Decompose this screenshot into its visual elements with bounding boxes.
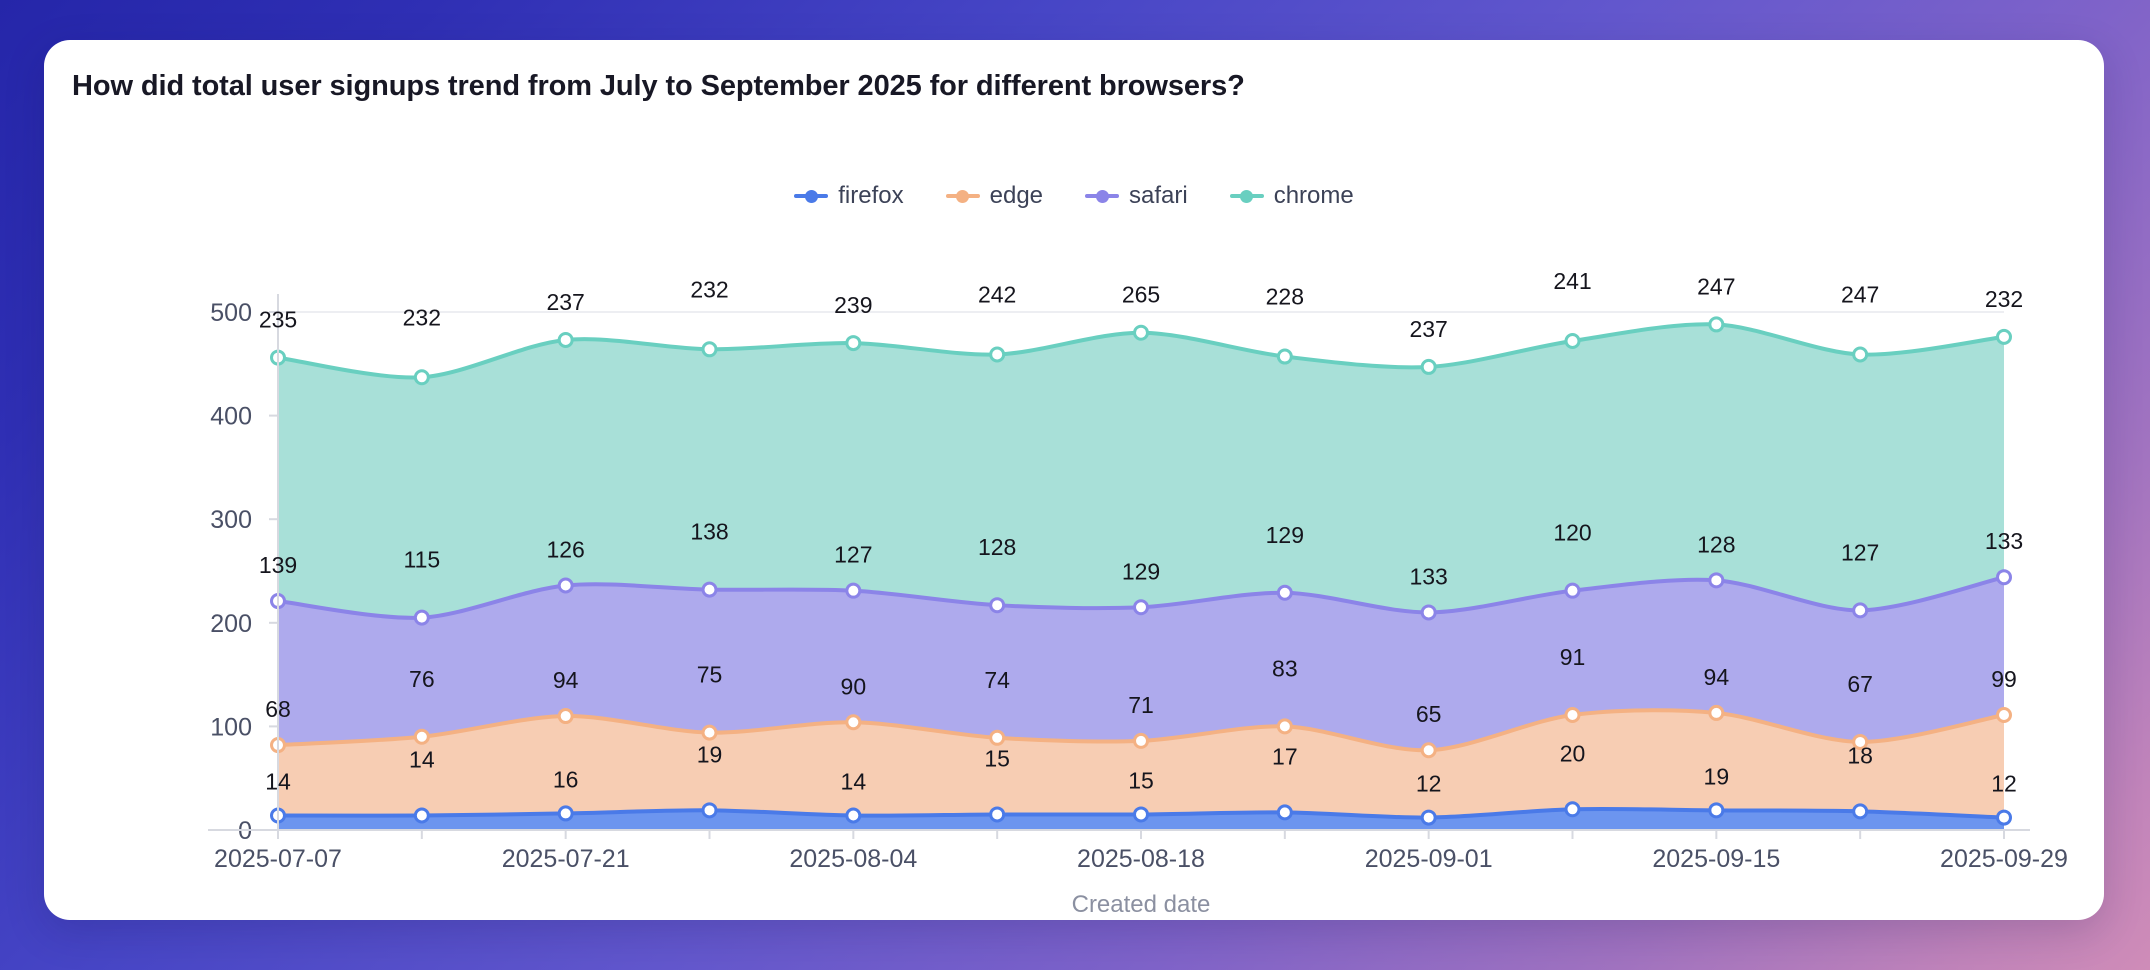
data-point-label: 99: [1991, 666, 2017, 692]
data-point-firefox[interactable]: [847, 809, 860, 822]
data-point-label: 127: [1841, 539, 1879, 565]
data-point-firefox[interactable]: [1278, 806, 1291, 819]
data-point-edge[interactable]: [1278, 720, 1291, 733]
data-point-label: 14: [841, 768, 867, 794]
data-point-edge[interactable]: [991, 731, 1004, 744]
data-point-label: 17: [1272, 743, 1298, 769]
x-axis-tick-label: 2025-09-15: [1652, 845, 1780, 873]
data-point-label: 83: [1272, 655, 1298, 681]
data-point-safari[interactable]: [1135, 601, 1148, 614]
x-axis-tick-label: 2025-09-01: [1365, 845, 1493, 873]
chart-plot-area: 01002003004005002025-07-072025-07-212025…: [44, 40, 2104, 920]
data-point-label: 241: [1553, 268, 1591, 294]
data-point-chrome[interactable]: [415, 371, 428, 384]
data-point-label: 247: [1697, 273, 1735, 299]
data-point-label: 235: [259, 307, 297, 333]
data-point-firefox[interactable]: [415, 809, 428, 822]
data-point-edge[interactable]: [415, 730, 428, 743]
data-point-firefox[interactable]: [1998, 811, 2011, 824]
data-point-chrome[interactable]: [1998, 330, 2011, 343]
data-point-firefox[interactable]: [1710, 804, 1723, 817]
data-point-label: 232: [1985, 286, 2023, 312]
data-point-safari[interactable]: [1566, 584, 1579, 597]
data-point-label: 20: [1560, 740, 1586, 766]
data-point-edge[interactable]: [559, 710, 572, 723]
data-point-safari[interactable]: [415, 611, 428, 624]
data-point-label: 128: [978, 534, 1016, 560]
data-point-label: 237: [546, 289, 584, 315]
data-point-label: 133: [1409, 563, 1447, 589]
data-point-edge[interactable]: [847, 716, 860, 729]
data-point-label: 74: [984, 667, 1010, 693]
data-point-chrome[interactable]: [1710, 318, 1723, 331]
data-point-label: 138: [690, 519, 728, 545]
data-point-edge[interactable]: [1135, 734, 1148, 747]
data-point-chrome[interactable]: [847, 337, 860, 350]
data-point-label: 133: [1985, 528, 2023, 554]
y-axis-tick-label: 300: [210, 506, 252, 534]
data-point-label: 228: [1266, 284, 1304, 310]
data-point-label: 139: [259, 552, 297, 578]
data-point-label: 94: [553, 667, 579, 693]
data-point-label: 12: [1991, 771, 2017, 797]
data-point-edge[interactable]: [1566, 709, 1579, 722]
x-axis-title: Created date: [1072, 891, 1211, 918]
data-point-label: 65: [1416, 701, 1442, 727]
data-point-label: 91: [1560, 644, 1586, 670]
data-point-safari[interactable]: [703, 583, 716, 596]
data-point-label: 120: [1553, 520, 1591, 546]
x-axis-tick-label: 2025-09-29: [1940, 845, 2068, 873]
data-point-label: 115: [403, 547, 440, 573]
x-axis-tick-label: 2025-07-07: [214, 845, 342, 873]
data-point-label: 67: [1847, 671, 1873, 697]
data-point-safari[interactable]: [1422, 606, 1435, 619]
data-point-chrome[interactable]: [559, 333, 572, 346]
data-point-label: 14: [409, 746, 435, 772]
data-point-label: 68: [265, 696, 291, 722]
data-point-edge[interactable]: [1422, 744, 1435, 757]
data-point-safari[interactable]: [847, 584, 860, 597]
data-point-label: 232: [403, 304, 441, 330]
data-point-label: 14: [265, 768, 291, 794]
y-axis-tick-label: 200: [210, 610, 252, 638]
y-axis-tick-label: 400: [210, 403, 252, 431]
data-point-edge[interactable]: [1998, 709, 2011, 722]
data-point-label: 242: [978, 281, 1016, 307]
data-point-firefox[interactable]: [1854, 805, 1867, 818]
data-point-label: 15: [984, 745, 1010, 771]
data-point-label: 129: [1266, 522, 1304, 548]
data-point-firefox[interactable]: [1422, 811, 1435, 824]
data-point-firefox[interactable]: [991, 808, 1004, 821]
data-point-label: 127: [834, 542, 872, 568]
data-point-label: 265: [1122, 282, 1160, 308]
data-point-chrome[interactable]: [703, 343, 716, 356]
data-point-firefox[interactable]: [703, 804, 716, 817]
data-point-label: 129: [1122, 558, 1160, 584]
data-point-label: 239: [834, 292, 872, 318]
data-point-safari[interactable]: [559, 579, 572, 592]
data-point-safari[interactable]: [1710, 574, 1723, 587]
data-point-chrome[interactable]: [1422, 360, 1435, 373]
data-point-edge[interactable]: [703, 726, 716, 739]
data-point-chrome[interactable]: [1135, 326, 1148, 339]
data-point-label: 232: [690, 276, 728, 302]
data-point-edge[interactable]: [1710, 706, 1723, 719]
x-axis-tick-label: 2025-07-21: [502, 845, 630, 873]
data-point-firefox[interactable]: [1566, 803, 1579, 816]
chart-card: How did total user signups trend from Ju…: [44, 40, 2104, 920]
data-point-label: 75: [697, 662, 723, 688]
data-point-label: 16: [553, 766, 579, 792]
data-point-label: 12: [1416, 771, 1442, 797]
data-point-safari[interactable]: [1998, 571, 2011, 584]
data-point-label: 19: [1704, 763, 1730, 789]
x-axis-tick-label: 2025-08-04: [789, 845, 917, 873]
x-axis-tick-label: 2025-08-18: [1077, 845, 1205, 873]
data-point-safari[interactable]: [1278, 586, 1291, 599]
data-point-label: 15: [1128, 767, 1154, 793]
data-point-firefox[interactable]: [559, 807, 572, 820]
data-point-safari[interactable]: [991, 599, 1004, 612]
data-point-label: 237: [1409, 316, 1447, 342]
chart-svg: 01002003004005002025-07-072025-07-212025…: [44, 40, 2104, 920]
y-axis-tick-label: 500: [210, 299, 252, 327]
data-point-chrome[interactable]: [1278, 350, 1291, 363]
data-point-firefox[interactable]: [1135, 808, 1148, 821]
data-point-label: 128: [1697, 531, 1735, 557]
data-point-label: 18: [1847, 742, 1873, 768]
y-axis-tick-label: 100: [210, 713, 252, 741]
data-point-label: 19: [697, 741, 723, 767]
data-point-label: 247: [1841, 281, 1879, 307]
data-point-chrome[interactable]: [1854, 348, 1867, 361]
data-point-label: 126: [546, 537, 584, 563]
data-point-label: 76: [409, 666, 435, 692]
data-point-label: 90: [841, 673, 867, 699]
data-point-label: 71: [1128, 692, 1154, 718]
data-point-chrome[interactable]: [991, 348, 1004, 361]
data-point-safari[interactable]: [1854, 604, 1867, 617]
data-point-chrome[interactable]: [1566, 335, 1579, 348]
data-point-label: 94: [1704, 664, 1730, 690]
